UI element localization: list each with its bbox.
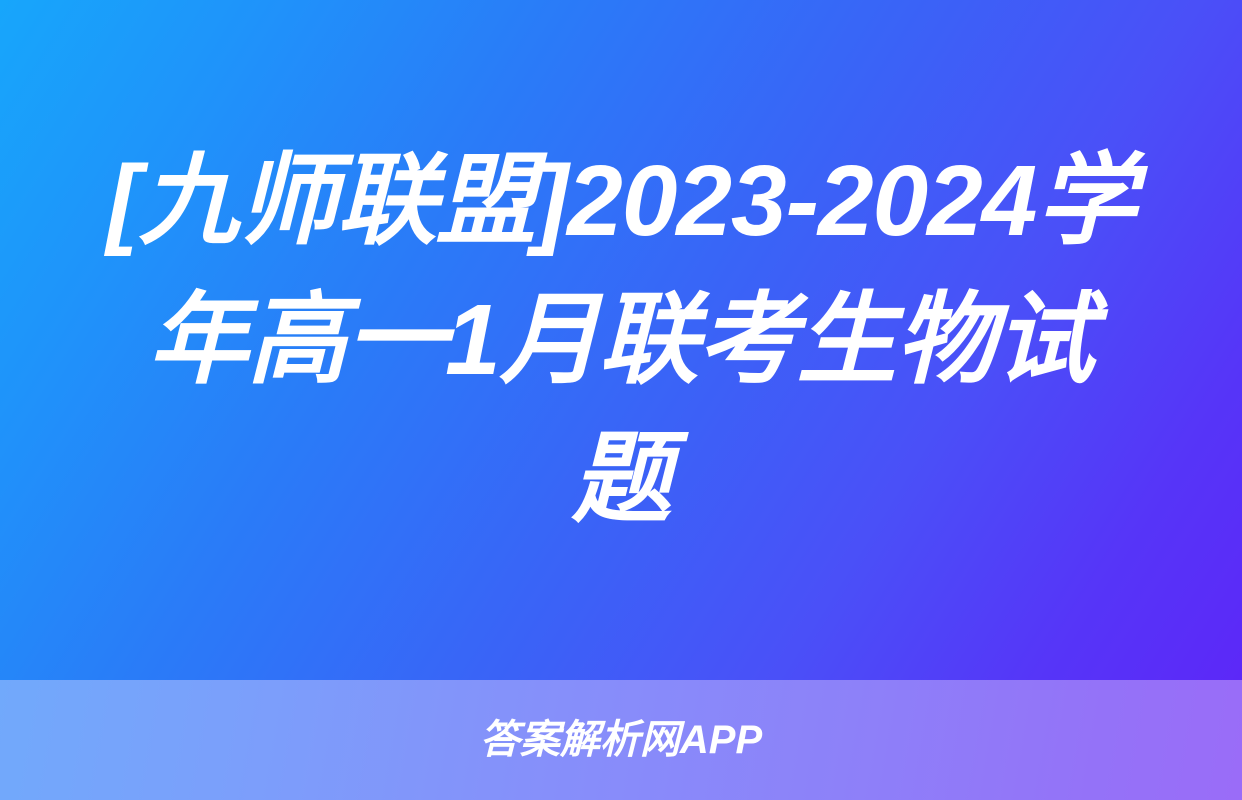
footer-container: 答案解析网APP [0, 680, 1242, 800]
page-title: [九师联盟]2023-2024学年高一1月联考生物试题 [100, 132, 1142, 549]
exam-cover-banner: [九师联盟]2023-2024学年高一1月联考生物试题 答案解析网APP [0, 0, 1242, 800]
footer-watermark: 答案解析网APP [480, 720, 762, 760]
title-container: [九师联盟]2023-2024学年高一1月联考生物试题 [0, 0, 1242, 680]
